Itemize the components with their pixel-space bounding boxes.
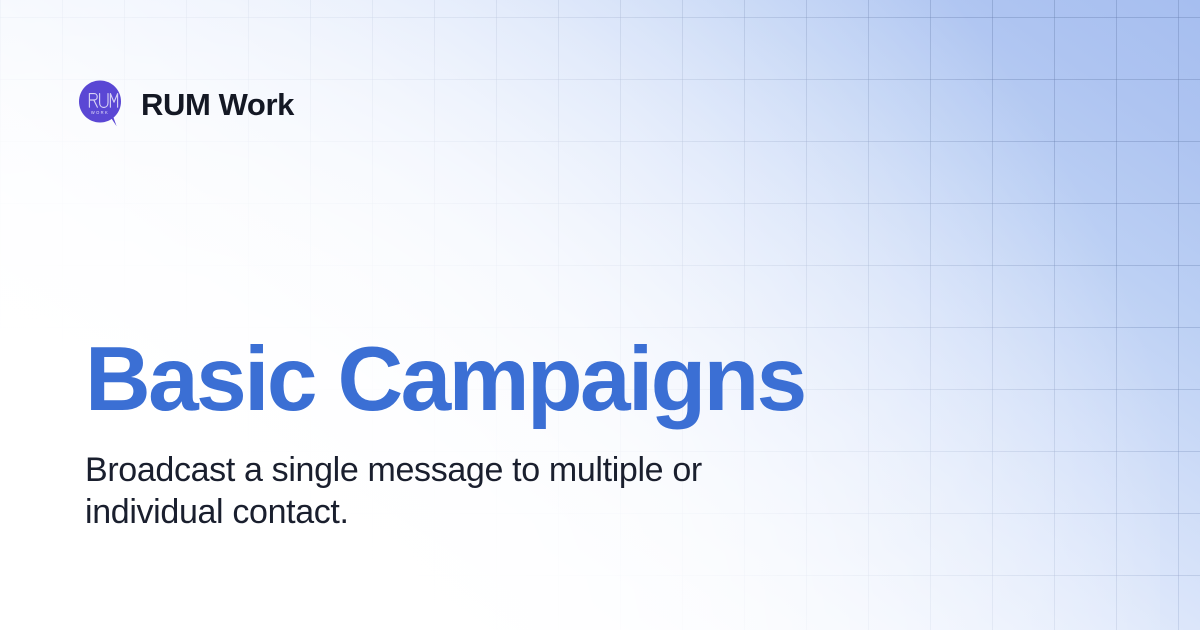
- subtitle-line-1: Broadcast a single message to multiple o…: [85, 451, 702, 489]
- page-subtitle: Broadcast a single message to multiple o…: [85, 449, 815, 533]
- brand-lockup: WORK RUM Work: [79, 80, 294, 128]
- rum-work-speech-bubble-logo-icon: WORK: [79, 80, 125, 128]
- page-title: Basic Campaigns: [85, 334, 985, 425]
- brand-name: RUM Work: [141, 89, 294, 120]
- subtitle-line-2: individual contact.: [85, 493, 349, 531]
- og-card: WORK RUM Work Basic Campaigns Broadcast …: [0, 0, 1200, 630]
- hero-text-block: Basic Campaigns Broadcast a single messa…: [85, 334, 985, 533]
- svg-text:WORK: WORK: [91, 110, 109, 115]
